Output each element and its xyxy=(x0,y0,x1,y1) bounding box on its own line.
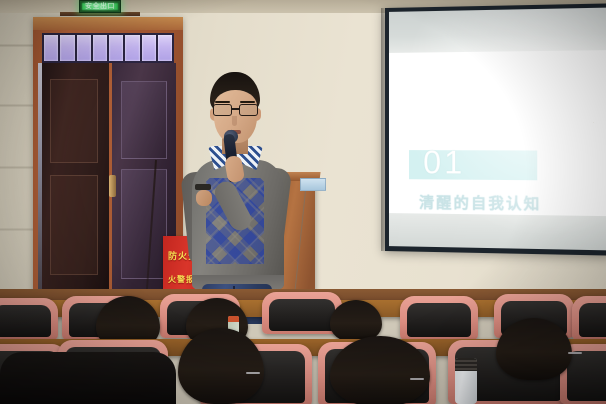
slide-number: 01 xyxy=(423,145,465,180)
door-panel xyxy=(50,175,98,275)
seat-cushion xyxy=(269,299,335,331)
exit-sign-label: 安全出口 xyxy=(80,1,120,12)
presenter-eyebrow-left xyxy=(215,101,230,103)
seat-cushion xyxy=(567,351,606,401)
slide-bottom-band xyxy=(389,213,606,250)
lectern-name-card xyxy=(300,178,326,191)
seat xyxy=(400,296,478,340)
presenter-eyebrow-right xyxy=(240,101,255,103)
presenter-nose xyxy=(232,116,237,126)
emergency-exit-sign: 安全出口 xyxy=(79,0,121,13)
seat xyxy=(572,296,606,340)
seat-cushion xyxy=(407,303,471,337)
audience-eyeglasses xyxy=(410,378,424,380)
door-panel xyxy=(121,81,167,159)
seat-cushion xyxy=(579,303,606,337)
eyeglass-bridge xyxy=(232,108,239,110)
water-bottle xyxy=(455,358,477,404)
presenter-eyeglasses xyxy=(213,104,259,116)
foreground-seat-back xyxy=(0,352,176,404)
screen-surface: 01 清醒的自我认知 xyxy=(389,7,606,250)
transom-pane xyxy=(109,35,123,61)
eyeglass-lens-right xyxy=(239,104,258,116)
door-panel xyxy=(50,79,98,163)
audience-eyeglasses xyxy=(246,372,260,374)
presenter-other-hand xyxy=(196,190,212,206)
transom-pane xyxy=(125,35,139,61)
bottle-cap xyxy=(455,358,477,371)
transom-pane xyxy=(142,35,156,61)
door-header-trim xyxy=(33,17,183,30)
door-handle[interactable] xyxy=(109,175,116,197)
bottle-cap xyxy=(228,316,239,322)
transom-pane xyxy=(93,35,107,61)
audience-head xyxy=(496,318,572,380)
audience-eyeglasses xyxy=(568,352,582,354)
door-panel xyxy=(121,169,167,279)
lecture-hall-photo: 安全出口 防火安全 火警报警 01 清醒的自我认知 xyxy=(0,0,606,404)
seat-cushion xyxy=(0,305,51,337)
seat xyxy=(0,298,58,340)
presenter xyxy=(182,72,302,307)
transom-pane xyxy=(60,35,74,61)
slide-top-band xyxy=(389,7,606,52)
slide-body: 01 清醒的自我认知 xyxy=(389,50,606,216)
door-leaf-left[interactable] xyxy=(42,63,109,291)
transom-pane xyxy=(158,35,172,61)
slide-title: 清醒的自我认知 xyxy=(419,191,541,214)
projection-screen: 01 清醒的自我认知 xyxy=(385,3,606,255)
transom-pane xyxy=(77,35,91,61)
transom-window xyxy=(42,33,174,63)
transom-pane xyxy=(44,35,58,61)
eyeglass-lens-left xyxy=(213,104,232,116)
